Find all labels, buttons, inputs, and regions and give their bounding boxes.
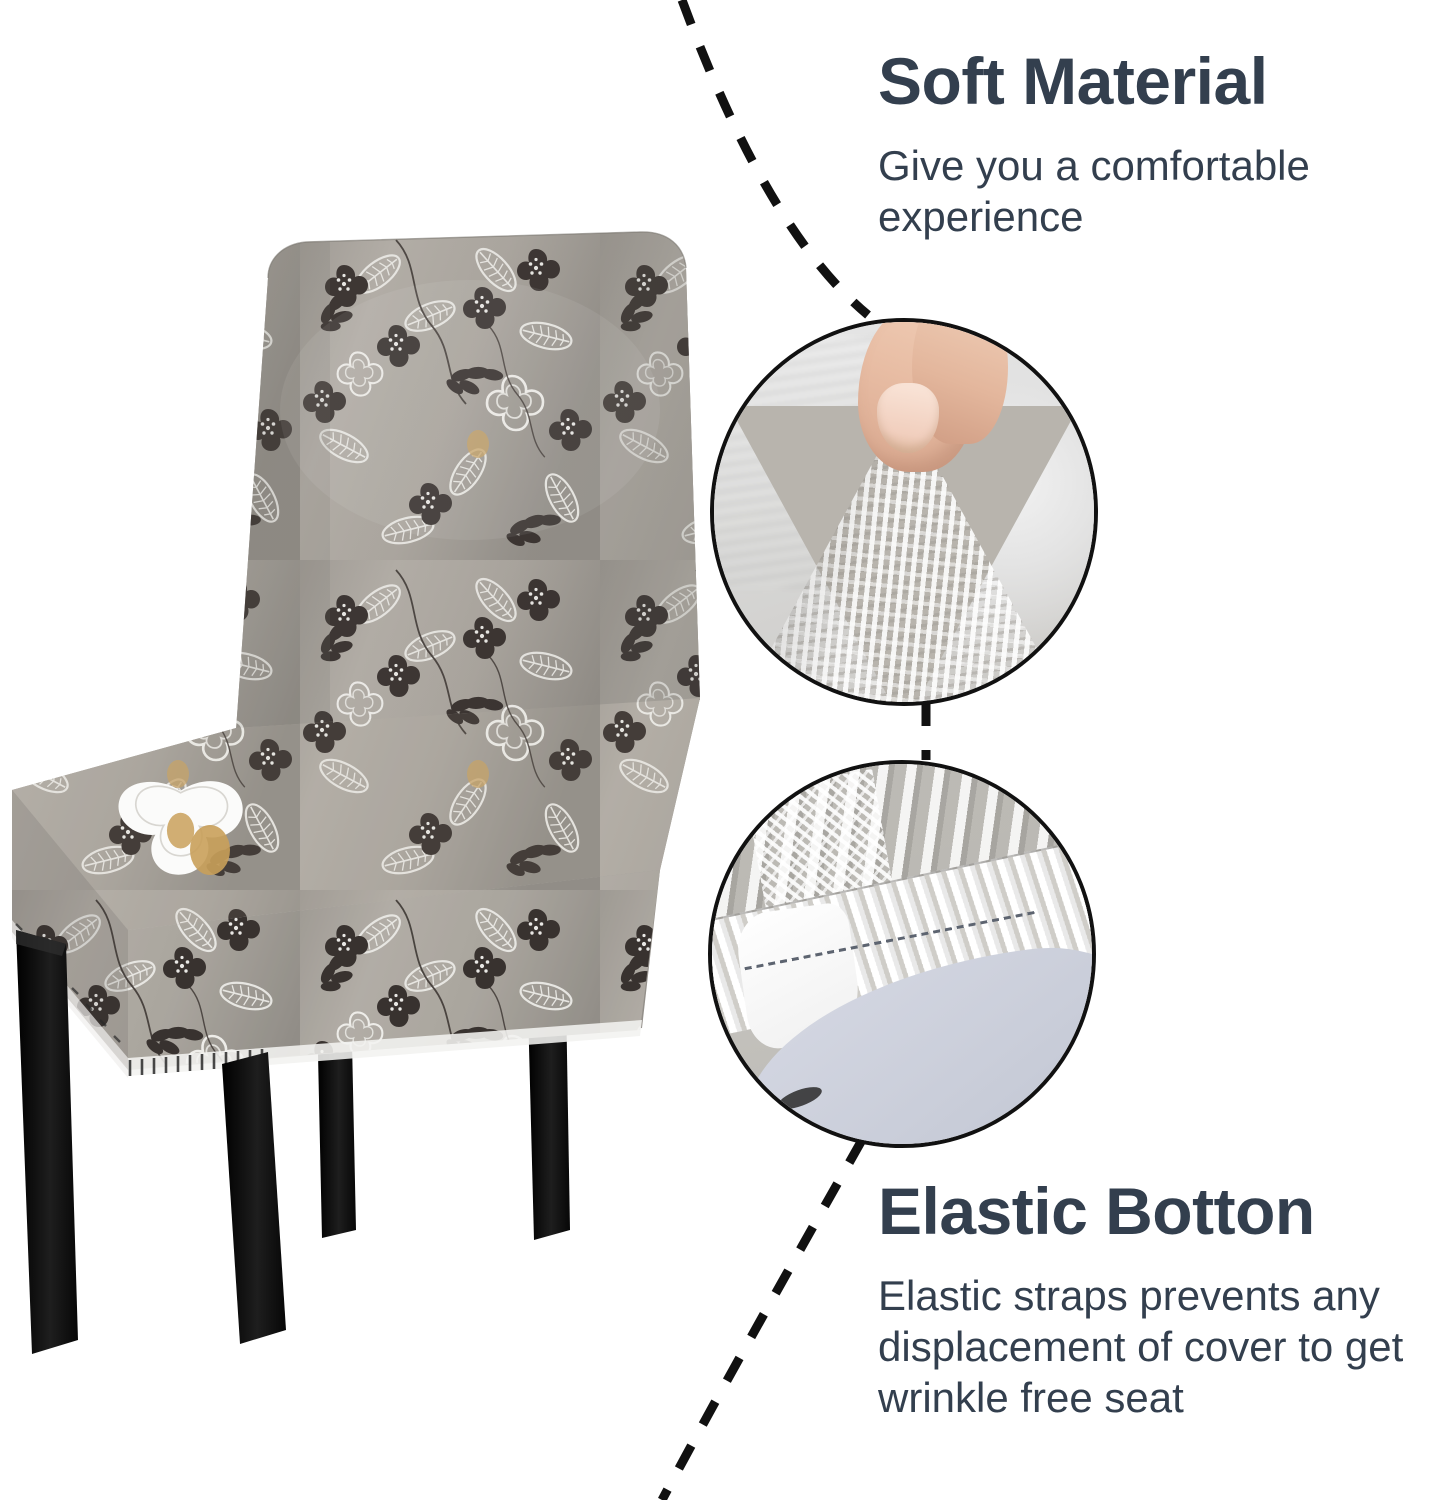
dashed-curve-top-icon xyxy=(682,0,868,315)
feature-block-soft-material: Soft Material Give you a comfortable exp… xyxy=(878,48,1398,242)
chair-leg-front-right xyxy=(222,1052,286,1344)
infographic-canvas: Soft Material Give you a comfortable exp… xyxy=(0,0,1452,1500)
feature-title-soft-material: Soft Material xyxy=(878,48,1398,114)
product-chair-image xyxy=(0,230,700,1360)
feature-block-elastic-botton: Elastic Botton Elastic straps prevents a… xyxy=(878,1178,1418,1424)
feature-description-soft-material: Give you a comfortable experience xyxy=(878,140,1398,242)
detail-circle-soft-material xyxy=(710,318,1098,706)
chair-leg-back-center xyxy=(318,1042,356,1238)
feature-description-elastic-botton: Elastic straps prevents any displacement… xyxy=(878,1270,1418,1424)
feature-title-elastic-botton: Elastic Botton xyxy=(878,1178,1418,1244)
chair-back-cover xyxy=(200,230,700,770)
detail-circle-elastic-hem xyxy=(708,760,1096,1148)
